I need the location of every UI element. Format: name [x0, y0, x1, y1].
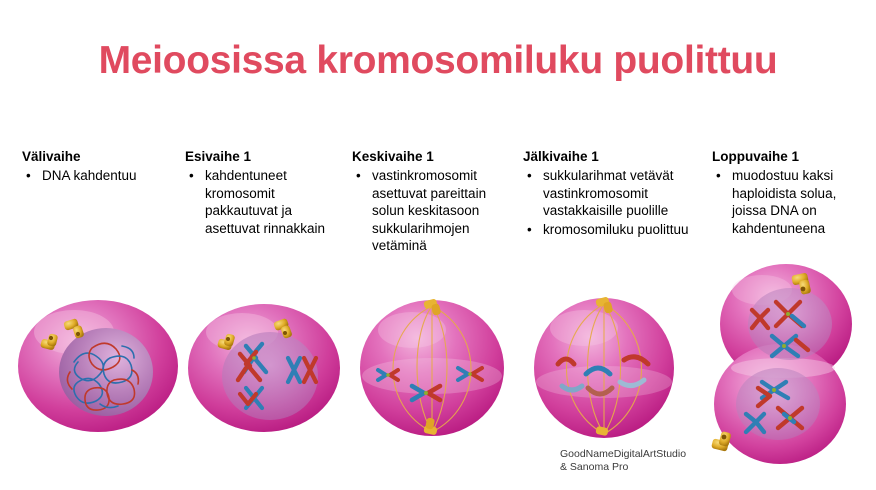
daughter-cell-lower-membrane	[714, 344, 846, 464]
bullet-icon: •	[189, 167, 194, 185]
cell-metaphase-1-illustration	[354, 298, 514, 438]
column-heading: Välivaihe	[22, 148, 182, 165]
cell-anaphase-1-illustration	[524, 294, 686, 440]
equatorial-band	[536, 366, 672, 398]
column-heading: Keskivaihe 1	[352, 148, 520, 165]
chromosome-blue-lower-left	[562, 386, 582, 390]
list-item: • DNA kahdentuu	[22, 167, 182, 185]
lower-chromosomes	[746, 382, 802, 432]
chromosome-red-arm-extra	[796, 340, 808, 350]
nucleus	[222, 332, 318, 420]
cytoplasm-highlight	[206, 313, 278, 351]
chromosome-red-upper-left	[558, 359, 574, 364]
daughter-nucleus-lower	[736, 368, 820, 440]
bullet-icon: •	[527, 167, 532, 185]
chromosome-blue-upper-center	[586, 368, 610, 374]
centriole-bottom	[423, 417, 437, 435]
upper-chromosomes	[752, 302, 808, 356]
cell-interphase-illustration	[14, 296, 182, 436]
chromosomes-moving-to-poles	[558, 357, 648, 394]
cell-prophase-1-illustration	[184, 300, 346, 436]
column-loppuvaihe-1: Loppuvaihe 1 • muodostuu kaksi haploidis…	[712, 148, 872, 238]
phase-columns: Välivaihe • DNA kahdentuu Esivaihe 1 • k…	[0, 148, 876, 268]
column-bullet-list: • vastinkromosomit asettuvat pareittain …	[352, 167, 520, 255]
spindle-fibers	[567, 304, 642, 434]
column-heading: Jälkivaihe 1	[523, 148, 705, 165]
centriole-pair-upper	[63, 318, 85, 339]
chromosome-pair-2	[288, 358, 316, 382]
list-item: • muodostuu kaksi haploidista solua, joi…	[712, 167, 872, 237]
list-item-text: sukkularihmat vetävät vastinkromosomit v…	[543, 168, 674, 218]
chromosome-red-large	[776, 302, 802, 326]
cell-telophase-1-illustration	[700, 256, 870, 468]
centriole-pair-left	[217, 333, 236, 351]
list-item: • sukkularihmat vetävät vastinkromosomit…	[523, 167, 705, 220]
list-item: • kromosomiluku puolittuu	[523, 221, 705, 239]
cell-membrane	[534, 298, 674, 438]
list-item-text: vastinkromosomit asettuvat pareittain so…	[372, 168, 486, 253]
cytoplasm-highlight	[378, 312, 446, 348]
centriole-pair-upper-right	[273, 318, 293, 339]
cell-membrane	[188, 304, 340, 432]
centriole-pair-lower	[40, 333, 58, 350]
metaphase-chromosome-center	[412, 386, 440, 400]
chromosome-red-lower-center	[588, 388, 612, 394]
chromosome-pair-1	[238, 344, 266, 380]
centriole-pair-upper	[791, 272, 811, 294]
column-keskivaihe-1: Keskivaihe 1 • vastinkromosomit asettuva…	[352, 148, 520, 256]
chromosome-blue-arm-extra	[784, 414, 794, 422]
centriole-top	[423, 298, 441, 315]
chromosome-blue-lower-right	[620, 380, 644, 386]
chromosome-blue-small	[746, 414, 764, 432]
column-heading: Loppuvaihe 1	[712, 148, 872, 165]
cytoplasm-highlight-upper	[732, 275, 792, 305]
chromosome-blue-top	[762, 382, 788, 398]
cleavage-furrow-highlight	[731, 358, 835, 378]
cytoplasm-highlight	[34, 310, 114, 354]
daughter-cell-upper-membrane	[720, 264, 852, 384]
list-item-text: kromosomiluku puolittuu	[543, 222, 689, 237]
page-title: Meioosissa kromosomiluku puolittuu	[0, 38, 876, 84]
column-valivaihe: Välivaihe • DNA kahdentuu	[22, 148, 182, 186]
column-bullet-list: • sukkularihmat vetävät vastinkromosomit…	[523, 167, 705, 238]
cell-membrane	[360, 300, 504, 436]
column-heading: Esivaihe 1	[185, 148, 348, 165]
chromosome-blue-large	[772, 336, 798, 356]
metaphase-chromosome-right	[458, 368, 482, 380]
equatorial-band	[362, 358, 502, 394]
centriole-top	[595, 296, 613, 313]
chromosome-pair-3	[240, 388, 262, 408]
chromosome-red-upper-right	[624, 357, 648, 364]
chromosome-red-overlay	[758, 388, 770, 406]
chromosome-blue-arm-extra	[792, 316, 804, 326]
bullet-icon: •	[26, 167, 31, 185]
chromosome-red-right	[778, 408, 802, 428]
cytoplasm-highlight	[550, 310, 618, 346]
chromatin-threads	[67, 343, 138, 410]
metaphase-chromosome-left	[378, 370, 398, 380]
nucleus	[59, 328, 153, 416]
list-item: • kahdentuneet kromosomit pakkautuvat ja…	[185, 167, 348, 237]
bullet-icon: •	[527, 221, 532, 239]
column-bullet-list: • DNA kahdentuu	[22, 167, 182, 185]
chromosome-red-small	[752, 310, 768, 328]
list-item-text: muodostuu kaksi haploidista solua, joiss…	[732, 168, 836, 236]
credit-line-1: GoodNameDigitalArtStudio	[560, 448, 720, 461]
credit-text: GoodNameDigitalArtStudio & Sanoma Pro	[560, 448, 720, 474]
centriole-bottom	[595, 426, 608, 436]
cell-membrane	[18, 300, 178, 432]
daughter-nucleus-upper	[748, 288, 832, 360]
bullet-icon: •	[716, 167, 721, 185]
bullet-icon: •	[356, 167, 361, 185]
column-bullet-list: • muodostuu kaksi haploidista solua, joi…	[712, 167, 872, 237]
list-item-text: DNA kahdentuu	[42, 168, 137, 183]
spindle-fibers	[393, 306, 471, 432]
list-item: • vastinkromosomit asettuvat pareittain …	[352, 167, 520, 255]
list-item-text: kahdentuneet kromosomit pakkautuvat ja a…	[205, 168, 325, 236]
column-jalkivaihe-1: Jälkivaihe 1 • sukkularihmat vetävät vas…	[523, 148, 705, 239]
column-bullet-list: • kahdentuneet kromosomit pakkautuvat ja…	[185, 167, 348, 237]
column-esivaihe-1: Esivaihe 1 • kahdentuneet kromosomit pak…	[185, 148, 348, 238]
credit-line-2: & Sanoma Pro	[560, 461, 720, 474]
